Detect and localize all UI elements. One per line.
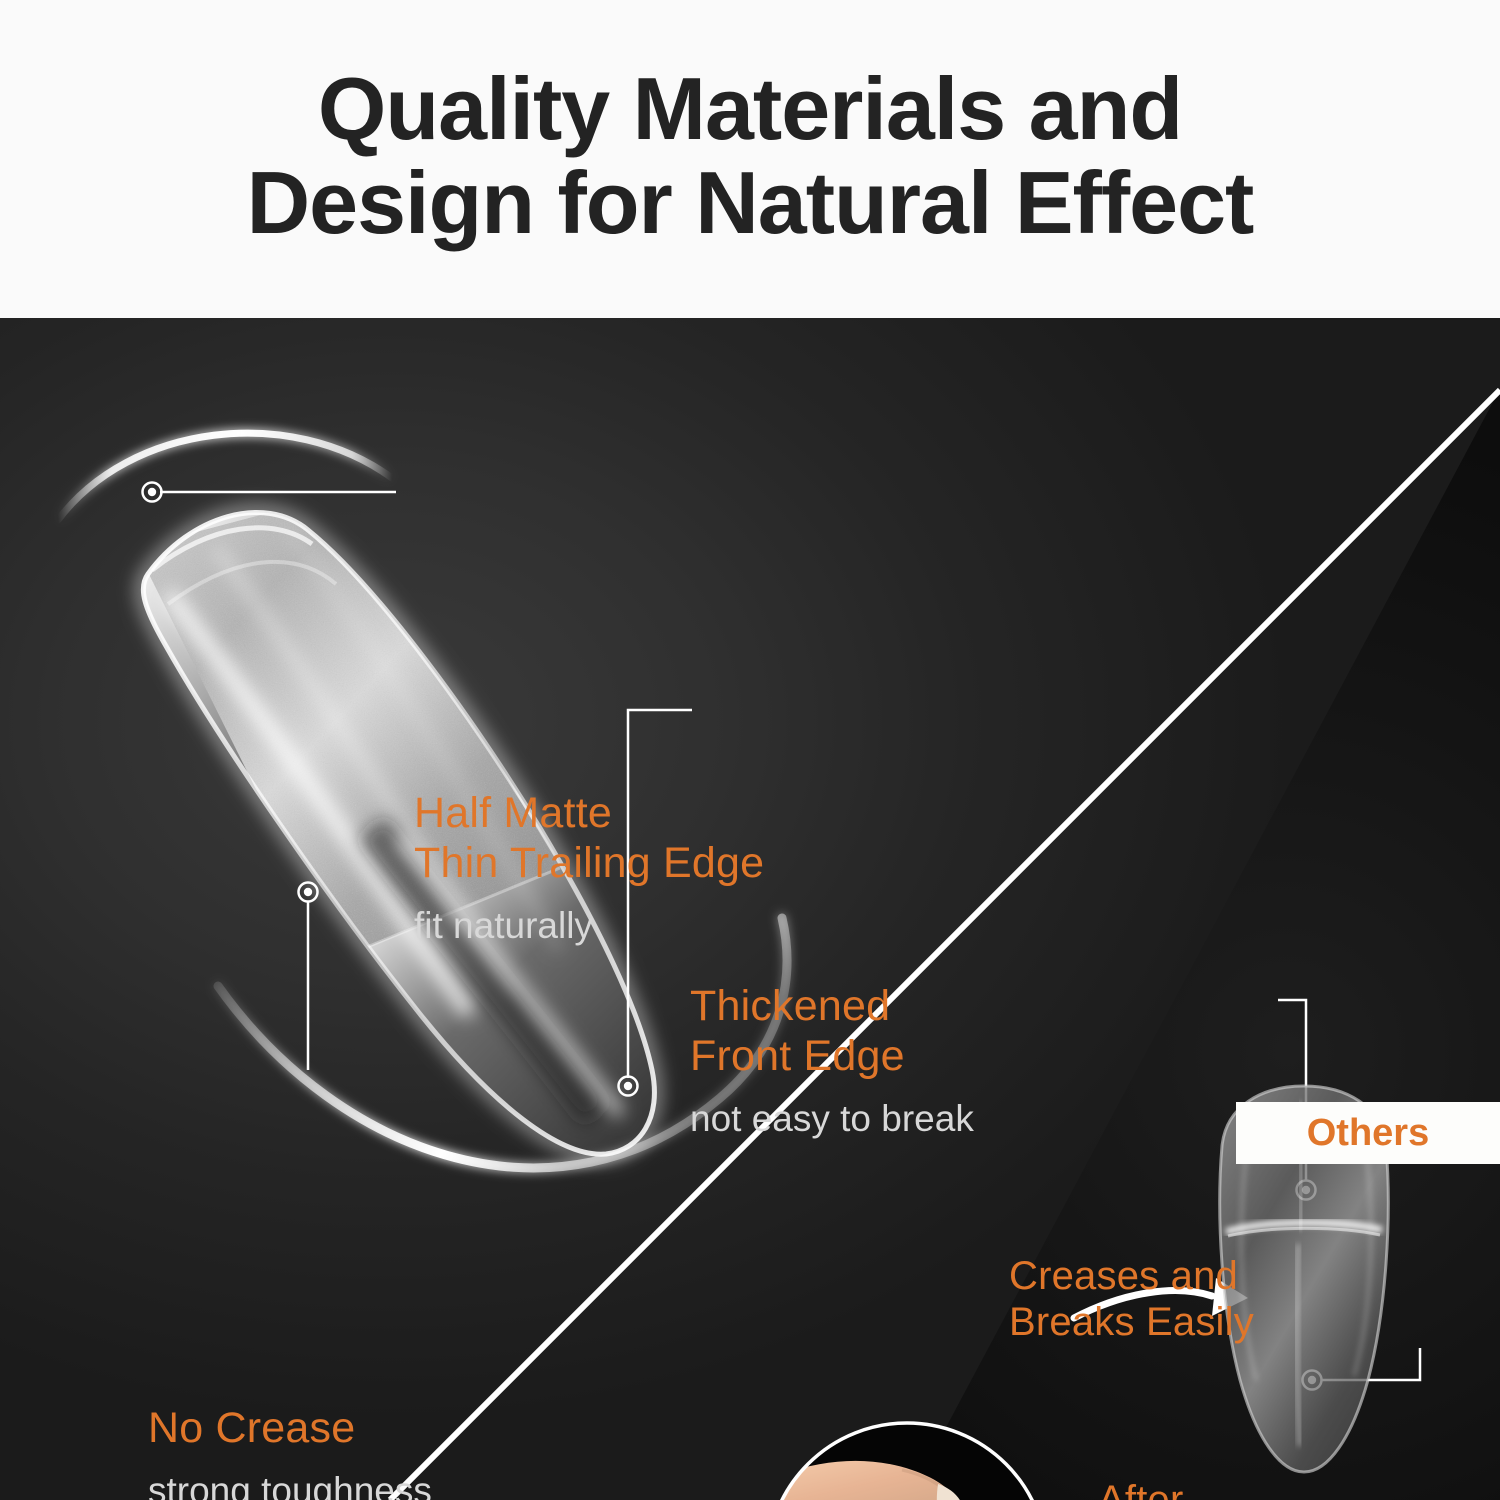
top-light-arc (58, 433, 392, 520)
callout-after-bend-title: After Bend (1098, 1476, 1192, 1500)
callout-no-crease-title: No Crease (148, 1403, 432, 1453)
callout-half-matte: Half Matte Thin Trailing Edge fit natura… (414, 788, 764, 948)
callout-creases-breaks-title: Creases and Breaks Easily (1009, 1253, 1254, 1345)
callout-half-matte-title: Half Matte Thin Trailing Edge (414, 788, 764, 888)
header-band: Quality Materials and Design for Natural… (0, 0, 1500, 318)
callout-no-crease-subtitle: strong toughness (148, 1469, 432, 1500)
infographic-page: Quality Materials and Design for Natural… (0, 0, 1500, 1500)
comparison-badge-others: Others (1236, 1102, 1500, 1164)
callout-creases-breaks: Creases and Breaks Easily (1009, 1253, 1254, 1345)
page-title: Quality Materials and Design for Natural… (0, 62, 1500, 250)
bend-demo-photo (752, 1408, 1062, 1500)
callout-no-crease: No Crease strong toughness (148, 1403, 432, 1500)
callout-after-bend: After Bend (1098, 1476, 1192, 1500)
comparison-badge-others-label: Others (1307, 1112, 1429, 1155)
callout-half-matte-subtitle: fit naturally (414, 904, 764, 948)
callout-thickened-front-edge-title: Thickened Front Edge (690, 981, 974, 1081)
callout-thickened-front-edge: Thickened Front Edge not easy to break (690, 981, 974, 1141)
callout-thickened-front-edge-subtitle: not easy to break (690, 1097, 974, 1141)
comparison-stage: Half Matte Thin Trailing Edge fit natura… (0, 318, 1500, 1500)
